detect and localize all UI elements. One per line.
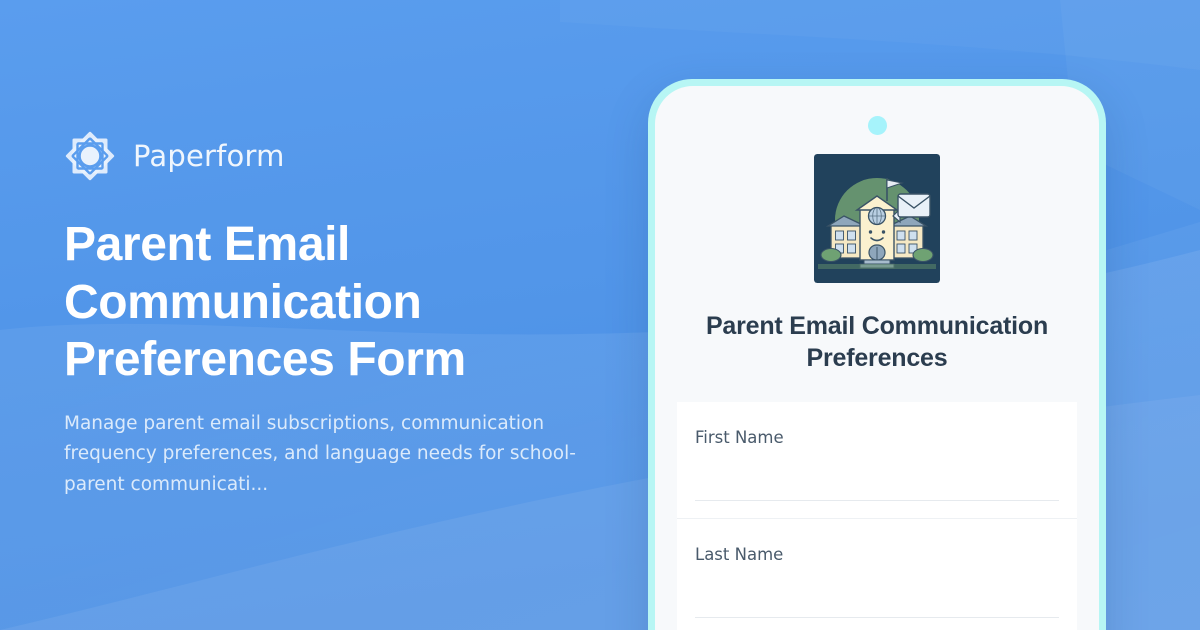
- phone-screen: Parent Email Communication Preferences F…: [655, 86, 1099, 630]
- field-underline: [695, 500, 1059, 501]
- form-field-last-name[interactable]: Last Name: [677, 518, 1077, 630]
- field-label-first-name: First Name: [695, 428, 1059, 447]
- paperform-star-logo-icon: [64, 130, 116, 182]
- form-title: Parent Email Communication Preferences: [677, 311, 1077, 374]
- field-label-last-name: Last Name: [695, 545, 1059, 564]
- field-underline: [695, 617, 1059, 618]
- form-field-first-name[interactable]: First Name: [677, 402, 1077, 518]
- form-hero-image: [814, 154, 940, 283]
- brand-lockup: Paperform: [64, 130, 640, 182]
- camera-dot-icon: [868, 116, 887, 135]
- hero-left-panel: Paperform Parent Email Communication Pre…: [0, 0, 640, 630]
- school-building-with-envelope-illustration-icon: [814, 154, 940, 283]
- page-description: Manage parent email subscriptions, commu…: [64, 409, 584, 500]
- brand-name: Paperform: [133, 142, 285, 171]
- page-title: Parent Email Communication Preferences F…: [64, 216, 534, 389]
- form-fields: First Name Last Name: [677, 402, 1077, 630]
- phone-mockup: Parent Email Communication Preferences F…: [648, 79, 1106, 630]
